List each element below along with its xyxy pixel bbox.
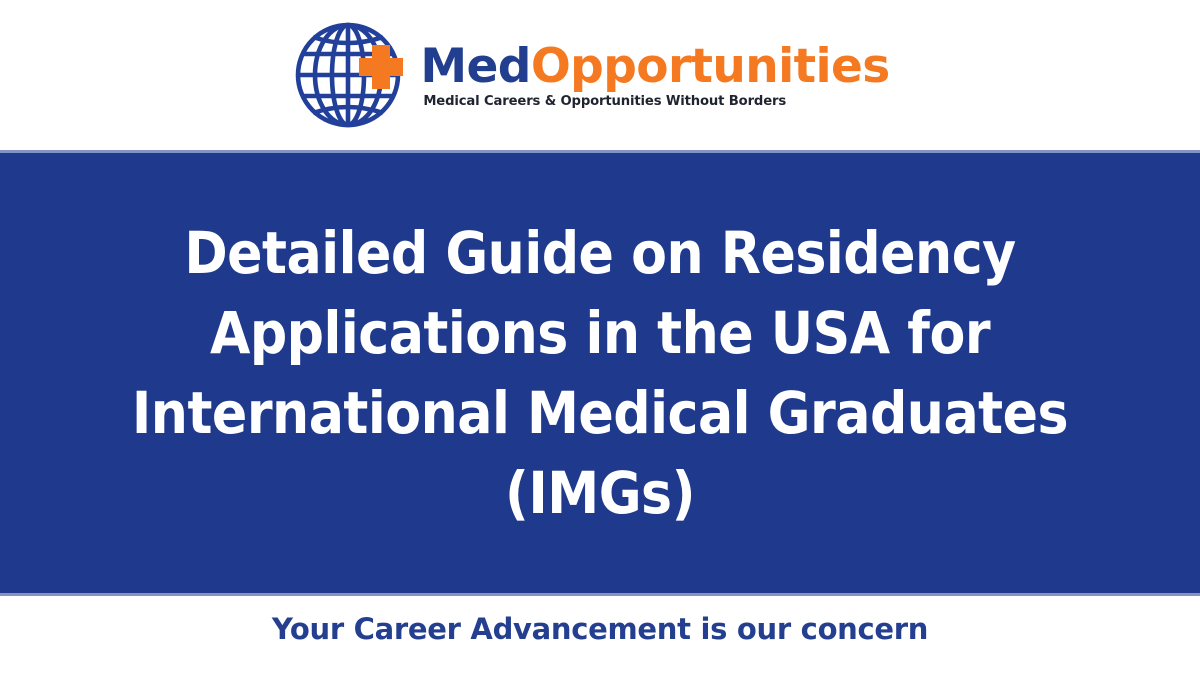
header-logo-bar: MedOpportunities Medical Careers & Oppor… — [0, 0, 1200, 150]
title-line-4: (IMGs) — [120, 453, 1080, 533]
footer-bar: Your Career Advancement is our concern — [0, 596, 1200, 675]
page-title: Detailed Guide on Residency Applications… — [120, 213, 1080, 533]
title-line-1: Detailed Guide on Residency — [120, 213, 1080, 293]
brand-wordmark: MedOpportunities — [420, 43, 889, 91]
title-line-3: International Medical Graduates — [120, 373, 1080, 453]
footer-slogan: Your Career Advancement is our concern — [272, 614, 928, 646]
title-line-2: Applications in the USA for — [120, 293, 1080, 373]
wordmark-opportunities: Opportunities — [531, 39, 890, 94]
brand-wordmark-block: MedOpportunities Medical Careers & Oppor… — [420, 43, 889, 110]
brand-logo-lockup[interactable]: MedOpportunities Medical Careers & Oppor… — [294, 19, 889, 131]
wordmark-med: Med — [420, 39, 531, 94]
brand-tagline: Medical Careers & Opportunities Without … — [423, 94, 786, 109]
hero-blue-band: Detailed Guide on Residency Applications… — [0, 150, 1200, 596]
slide-canvas: MedOpportunities Medical Careers & Oppor… — [0, 0, 1200, 675]
globe-with-medical-cross-icon — [294, 19, 406, 131]
